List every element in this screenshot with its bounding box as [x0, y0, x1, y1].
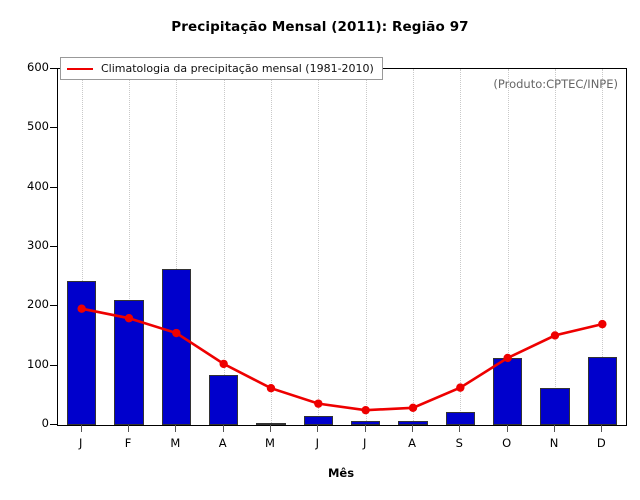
x-axis-tick-label: A: [397, 436, 427, 450]
legend: Climatologia da precipitação mensal (198…: [60, 57, 383, 80]
legend-line-swatch: [67, 68, 93, 70]
x-axis-tick-label: O: [492, 436, 522, 450]
plot-area: (Produto:CPTEC/INPE): [58, 69, 626, 425]
chart-page: Precipitação Mensal (2011): Região 97 01…: [0, 0, 640, 500]
x-axis-tick-label: F: [113, 436, 143, 450]
y-axis-tick-mark: [50, 246, 57, 247]
x-axis-tick-label: M: [255, 436, 285, 450]
x-axis-tick-label: D: [586, 436, 616, 450]
climatology-polyline: [82, 309, 603, 410]
y-axis-label-wrapper: Precipitação mensal (mm): [0, 68, 18, 424]
source-annotation: (Produto:CPTEC/INPE): [493, 77, 618, 91]
x-axis-tick-mark: [175, 425, 176, 432]
climatology-marker: [172, 329, 180, 337]
x-axis-tick-mark: [223, 425, 224, 432]
climatology-marker: [503, 354, 511, 362]
climatology-line-series: [58, 69, 626, 425]
x-axis-tick-label: S: [444, 436, 474, 450]
x-axis-label: Mês: [57, 466, 625, 480]
climatology-marker: [314, 399, 322, 407]
y-axis-tick-mark: [50, 187, 57, 188]
x-axis-tick-label: J: [66, 436, 96, 450]
plot-frame: (Produto:CPTEC/INPE): [57, 68, 627, 426]
climatology-marker: [409, 404, 417, 412]
x-axis-tick-mark: [459, 425, 460, 432]
y-axis-tick-mark: [50, 127, 57, 128]
x-axis-tick-mark: [412, 425, 413, 432]
x-axis-tick-mark: [270, 425, 271, 432]
climatology-marker: [267, 384, 275, 392]
climatology-marker: [456, 383, 464, 391]
x-axis-tick-mark: [507, 425, 508, 432]
y-axis-tick-mark: [50, 305, 57, 306]
x-axis-tick-mark: [128, 425, 129, 432]
x-axis-tick-label: J: [350, 436, 380, 450]
climatology-marker: [598, 320, 606, 328]
x-axis-tick-mark: [81, 425, 82, 432]
climatology-marker: [125, 314, 133, 322]
x-axis-tick-label: A: [208, 436, 238, 450]
x-axis-tick-mark: [601, 425, 602, 432]
y-axis-label: Precipitação mensal (mm): [14, 0, 32, 68]
climatology-marker: [219, 360, 227, 368]
climatology-marker: [77, 305, 85, 313]
climatology-marker: [361, 406, 369, 414]
climatology-marker: [551, 331, 559, 339]
x-axis-tick-mark: [317, 425, 318, 432]
climatology-markers: [77, 305, 606, 415]
y-axis-tick-mark: [50, 68, 57, 69]
x-axis-tick-label: N: [539, 436, 569, 450]
y-axis-tick-mark: [50, 365, 57, 366]
page-title: Precipitação Mensal (2011): Região 97: [0, 19, 640, 35]
x-axis-tick-label: M: [160, 436, 190, 450]
y-axis-tick-mark: [50, 424, 57, 425]
x-axis-tick-label: J: [302, 436, 332, 450]
x-axis-tick-mark: [365, 425, 366, 432]
x-axis-tick-mark: [554, 425, 555, 432]
legend-item-label: Climatologia da precipitação mensal (198…: [101, 62, 374, 75]
